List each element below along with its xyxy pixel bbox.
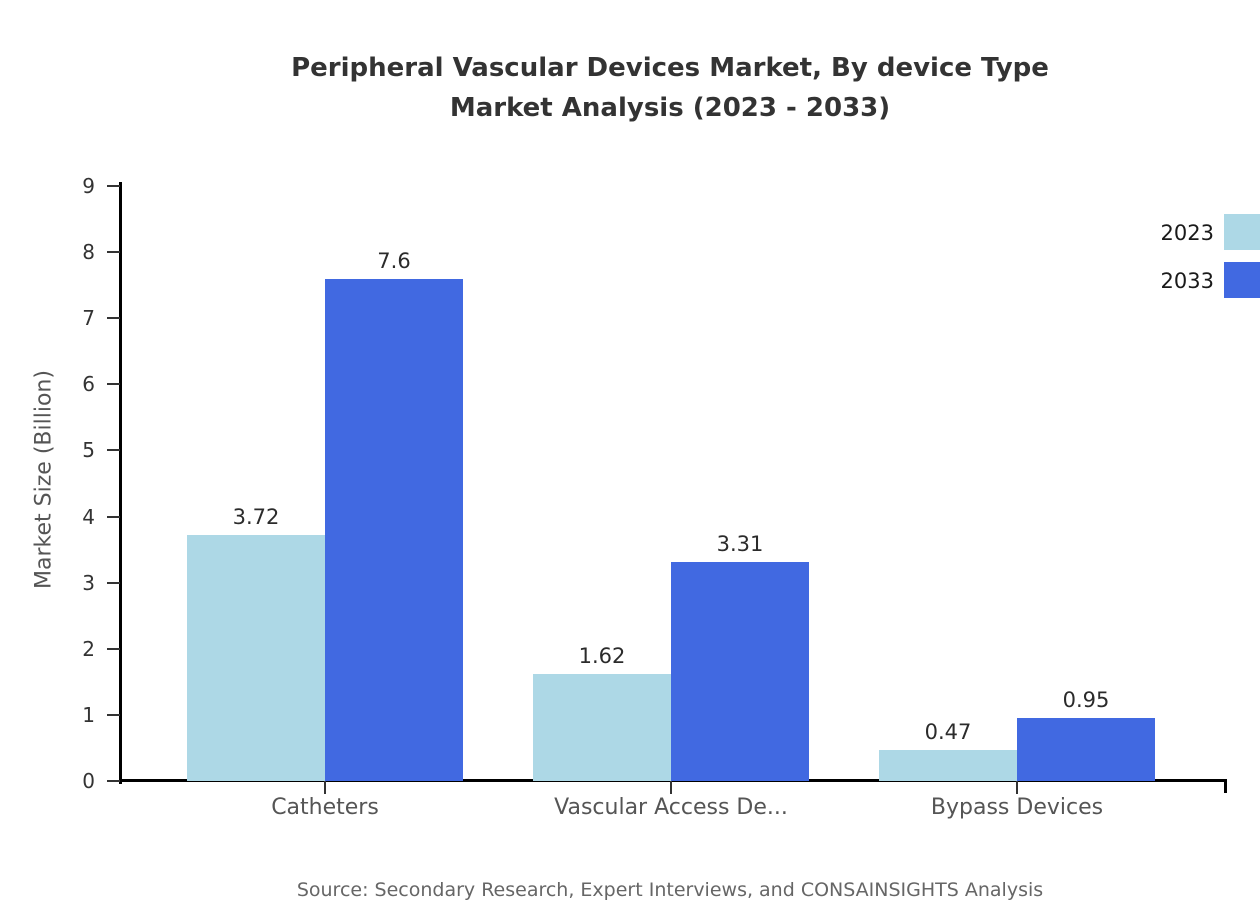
bar-value-label: 1.62: [533, 646, 671, 667]
y-axis-tick: [107, 449, 120, 451]
y-axis-tick-label: 6: [35, 374, 95, 394]
y-axis-tick-label: 8: [35, 242, 95, 262]
y-axis-tick: [107, 780, 120, 782]
chart-title: Peripheral Vascular Devices Market, By d…: [0, 48, 1260, 128]
y-axis-tick-label: 5: [35, 440, 95, 460]
source-note: Source: Secondary Research, Expert Inter…: [0, 878, 1260, 902]
legend-item-2033[interactable]: 2033: [1100, 262, 1260, 310]
legend-color-swatch: [1224, 262, 1260, 298]
bar-2023-bypass-devices[interactable]: [879, 750, 1017, 781]
legend-item-2023[interactable]: 2023: [1100, 214, 1260, 262]
bar-value-label: 3.31: [671, 534, 809, 555]
legend-color-swatch: [1224, 214, 1260, 250]
y-axis-tick-label: 0: [35, 771, 95, 791]
x-axis-end-tick: [1224, 779, 1227, 793]
x-axis-category-label: Bypass Devices: [817, 795, 1217, 821]
bar-2033-bypass-devices[interactable]: [1017, 718, 1155, 781]
y-axis-tick-label: 4: [35, 507, 95, 527]
y-axis-tick-label: 2: [35, 639, 95, 659]
bar-value-label: 0.47: [879, 722, 1017, 743]
x-axis-category-label: Catheters: [125, 795, 525, 821]
chart-legend: 20232033: [1100, 214, 1260, 310]
x-axis-tick: [324, 781, 326, 794]
bar-value-label: 0.95: [1017, 690, 1155, 711]
y-axis-tick: [107, 648, 120, 650]
y-axis-tick: [107, 185, 120, 187]
y-axis-tick: [107, 516, 120, 518]
y-axis-tick: [107, 317, 120, 319]
y-axis-tick-label: 7: [35, 308, 95, 328]
chart-title-line-2: Market Analysis (2023 - 2033): [0, 88, 1260, 128]
x-axis-tick: [1016, 781, 1018, 794]
bar-2033-catheters[interactable]: [325, 279, 463, 781]
y-axis-tick-label: 9: [35, 176, 95, 196]
x-axis-category-label: Vascular Access De...: [471, 795, 871, 821]
bar-value-label: 3.72: [187, 507, 325, 528]
bar-2023-vascular-access-de-[interactable]: [533, 674, 671, 781]
y-axis-tick-label: 3: [35, 573, 95, 593]
y-axis-tick: [107, 251, 120, 253]
y-axis-title: Market Size (Billion): [32, 310, 57, 650]
bar-value-label: 7.6: [325, 251, 463, 272]
y-axis-spine: [119, 182, 122, 784]
bar-2033-vascular-access-de-[interactable]: [671, 562, 809, 781]
y-axis-tick-label: 1: [35, 705, 95, 725]
chart-title-line-1: Peripheral Vascular Devices Market, By d…: [0, 48, 1260, 88]
y-axis-tick: [107, 714, 120, 716]
legend-label: 2023: [1161, 221, 1214, 245]
bar-2023-catheters[interactable]: [187, 535, 325, 781]
chart-figure: Peripheral Vascular Devices Market, By d…: [0, 0, 1260, 920]
y-axis-tick: [107, 383, 120, 385]
x-axis-tick: [670, 781, 672, 794]
legend-label: 2033: [1161, 269, 1214, 293]
y-axis-tick: [107, 582, 120, 584]
